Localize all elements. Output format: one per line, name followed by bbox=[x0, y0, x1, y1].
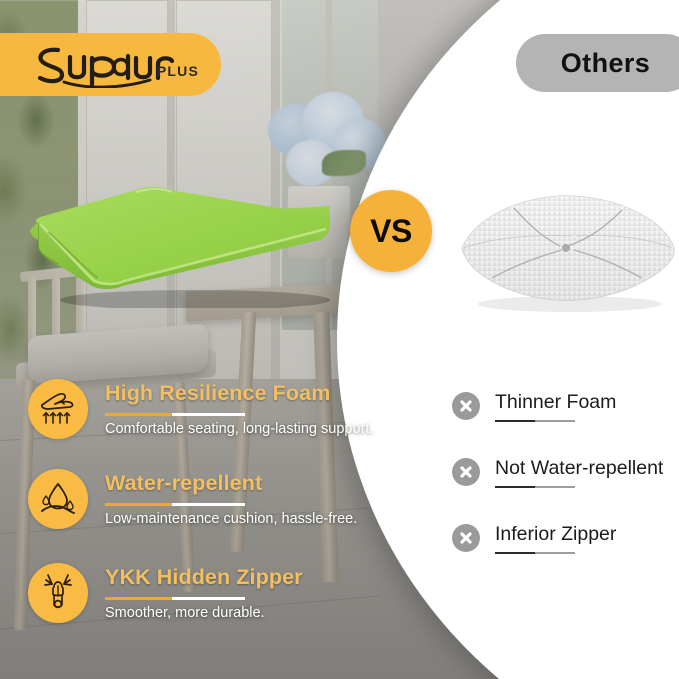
right-white-fill bbox=[660, 0, 679, 679]
competitor-cushion-image bbox=[452, 186, 679, 316]
con-text-block: Thinner Foam bbox=[495, 391, 616, 422]
comparison-infographic: PLUS Others bbox=[0, 0, 679, 679]
vs-badge: VS bbox=[350, 190, 432, 272]
brand-logo-mark: PLUS bbox=[28, 42, 203, 88]
con-title: Not Water-repellent bbox=[495, 457, 663, 480]
supdur-green-cushion-image bbox=[30, 178, 340, 308]
con-item-inferior-zipper: Inferior Zipper bbox=[452, 523, 616, 554]
x-mark-glyph bbox=[457, 463, 475, 481]
feature-subtitle: Smoother, more durable. bbox=[105, 605, 303, 621]
water-droplet-repel-icon bbox=[28, 469, 88, 529]
feature-item-ykk-hidden-zipper: YKK Hidden Zipper Smoother, more durable… bbox=[28, 563, 303, 623]
green-cushion-svg bbox=[30, 178, 340, 308]
feature-title: YKK Hidden Zipper bbox=[105, 565, 303, 590]
con-item-thinner-foam: Thinner Foam bbox=[452, 391, 616, 422]
x-circle-icon bbox=[452, 458, 480, 486]
con-text-block: Inferior Zipper bbox=[495, 523, 616, 554]
feature-divider-rule bbox=[105, 413, 245, 416]
x-mark-glyph bbox=[457, 529, 475, 547]
feature-item-high-resilience-foam: High Resilience Foam Comfortable seating… bbox=[28, 379, 373, 439]
hand-support-arrows-icon bbox=[28, 379, 88, 439]
feature-text-block: Water-repellent Low-maintenance cushion,… bbox=[105, 469, 357, 527]
con-text-block: Not Water-repellent bbox=[495, 457, 663, 488]
other-cushion-svg bbox=[452, 186, 679, 316]
water-droplet-repel-glyph bbox=[38, 479, 78, 519]
feature-subtitle: Low-maintenance cushion, hassle-free. bbox=[105, 511, 357, 527]
feature-title: Water-repellent bbox=[105, 471, 357, 496]
con-divider-rule bbox=[495, 486, 575, 488]
feature-title: High Resilience Foam bbox=[105, 381, 373, 406]
con-divider-rule bbox=[495, 552, 575, 554]
x-circle-icon bbox=[452, 524, 480, 552]
con-item-not-water-repellent: Not Water-repellent bbox=[452, 457, 663, 488]
zipper-icon bbox=[28, 563, 88, 623]
feature-item-water-repellent: Water-repellent Low-maintenance cushion,… bbox=[28, 469, 357, 529]
zipper-glyph bbox=[38, 572, 78, 614]
con-title: Thinner Foam bbox=[495, 391, 616, 414]
hand-support-arrows-glyph bbox=[38, 389, 78, 429]
feature-divider-rule bbox=[105, 597, 245, 600]
feature-subtitle: Comfortable seating, long-lasting suppor… bbox=[105, 421, 373, 437]
feature-text-block: YKK Hidden Zipper Smoother, more durable… bbox=[105, 563, 303, 621]
brand-logo-plus-text: PLUS bbox=[157, 63, 199, 79]
others-label-text: Others bbox=[561, 48, 650, 79]
x-circle-icon bbox=[452, 392, 480, 420]
others-label-badge: Others bbox=[516, 34, 679, 92]
feature-text-block: High Resilience Foam Comfortable seating… bbox=[105, 379, 373, 437]
brand-logo-badge: PLUS bbox=[0, 33, 221, 96]
con-title: Inferior Zipper bbox=[495, 523, 616, 546]
x-mark-glyph bbox=[457, 397, 475, 415]
vs-badge-text: VS bbox=[370, 213, 412, 250]
feature-divider-rule bbox=[105, 503, 245, 506]
con-divider-rule bbox=[495, 420, 575, 422]
